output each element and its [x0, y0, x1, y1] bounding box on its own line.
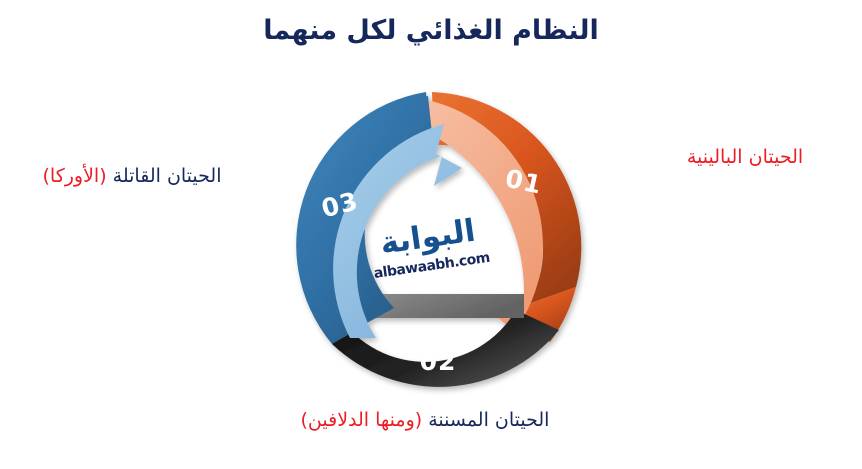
- segment-label-03-paren: (الأوركا): [43, 165, 107, 187]
- segment-label-02-paren: (ومنها الدلافين): [301, 409, 423, 431]
- segment-label-01: الحيتان البالينية: [640, 145, 850, 170]
- segment-label-01-text: الحيتان البالينية: [687, 146, 803, 168]
- cycle-diagram-svg: 01 02 03: [276, 82, 606, 412]
- segment-label-03-main: الحيتان القاتلة: [113, 165, 222, 187]
- segment-label-03: الحيتان القاتلة (الأوركا): [12, 164, 252, 189]
- page-title: النظام الغذائي لكل منهما: [0, 14, 862, 48]
- cycle-diagram: 01 02 03: [276, 82, 606, 412]
- segment-02-number: 02: [420, 347, 457, 376]
- segment-label-02-main: الحيتان المسننة: [428, 409, 549, 431]
